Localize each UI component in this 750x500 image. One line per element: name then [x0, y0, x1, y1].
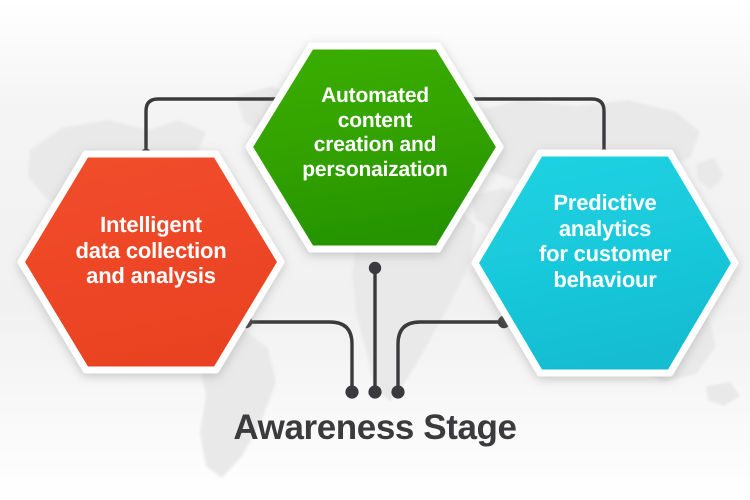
dot-bottom-mid [368, 385, 381, 398]
connector-cyan-to-bottom [398, 322, 504, 390]
dot-bottom-left [345, 385, 358, 398]
page-title: Awareness Stage [0, 408, 750, 448]
infographic-canvas: Intelligent data collection and analysis… [0, 0, 750, 500]
dot-green-bottom [369, 262, 381, 274]
hexagon-shapes [21, 46, 735, 373]
hexagon-predictive-analytics[interactable] [475, 153, 735, 373]
dot-bottom-right [391, 385, 404, 398]
hexagon-intelligent-data-collection[interactable] [21, 154, 281, 370]
hexagon-automated-content-creation[interactable] [249, 46, 500, 249]
connector-red-to-bottom [246, 322, 352, 390]
